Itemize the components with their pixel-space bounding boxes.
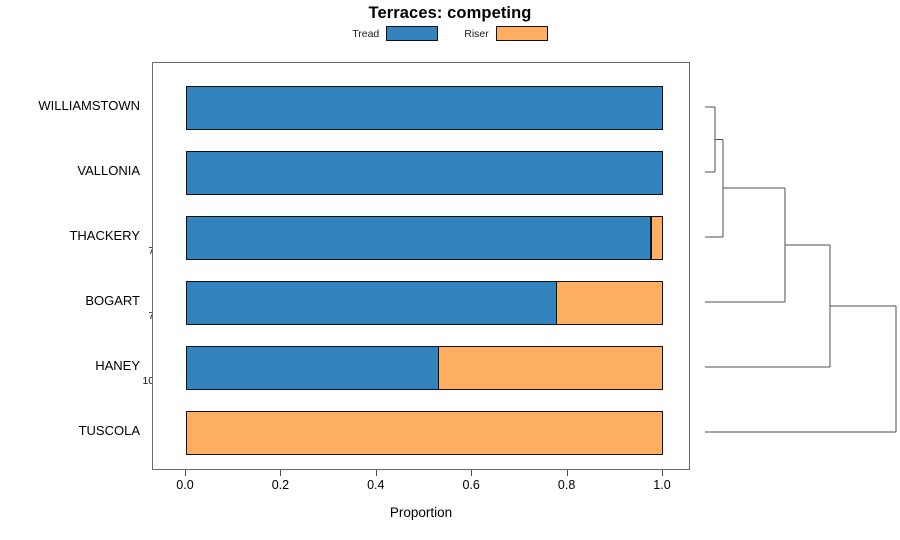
bar-segment-tread[interactable]: [187, 347, 438, 389]
bar-row: [153, 346, 691, 390]
bar-row: [153, 151, 691, 195]
bar-segment-tread[interactable]: [187, 152, 662, 194]
y-axis-label-thackery: THACKERY: [69, 228, 140, 243]
legend-swatch-riser: [496, 26, 548, 41]
x-tick-mark: [471, 470, 472, 476]
dendrogram-svg: [700, 62, 900, 470]
dendro-merge-1: [705, 107, 715, 172]
bar-segment-tread[interactable]: [187, 217, 650, 259]
x-tick-mark: [280, 470, 281, 476]
x-tick-label: 0.8: [544, 478, 590, 492]
x-tick-label: 0.2: [257, 478, 303, 492]
x-tick-label: 1.0: [639, 478, 685, 492]
stacked-bar[interactable]: [186, 411, 663, 455]
chart-legend: Tread Riser: [0, 26, 900, 41]
legend-swatch-tread: [386, 26, 438, 41]
y-axis-label-vallonia: VALLONIA: [77, 163, 140, 178]
bar-row: [153, 86, 691, 130]
y-axis-category-labels: WILLIAMSTOWNVALLONIATHACKERYBOGARTHANEYT…: [0, 62, 148, 470]
x-tick-label: 0.6: [448, 478, 494, 492]
bar-segment-tread[interactable]: [187, 87, 662, 129]
x-tick-mark: [662, 470, 663, 476]
y-axis-label-williamstown: WILLIAMSTOWN: [38, 98, 140, 113]
legend-label-riser: Riser: [464, 28, 489, 40]
bar-segment-riser[interactable]: [439, 347, 662, 389]
x-axis-ticks: [152, 470, 690, 478]
dendrogram: [700, 62, 900, 470]
x-tick-mark: [185, 470, 186, 476]
dendro-merge-5: [705, 306, 896, 432]
x-axis-title: Proportion: [152, 505, 690, 520]
bar-row: [153, 281, 691, 325]
dendro-merge-4: [705, 245, 830, 367]
y-axis-label-bogart: BOGART: [85, 293, 140, 308]
bar-row: [153, 411, 691, 455]
x-tick-label: 0.0: [162, 478, 208, 492]
bar-segment-tread[interactable]: [187, 282, 556, 324]
plot-panel: [152, 62, 690, 470]
y-axis-label-haney: HANEY: [95, 358, 140, 373]
x-tick-label: 0.4: [353, 478, 399, 492]
dendro-merge-3: [705, 188, 785, 302]
page-title: Terraces: competing: [0, 4, 900, 23]
y-axis-label-tuscola: TUSCOLA: [79, 423, 140, 438]
chart-root: Terraces: competing Tread Riser WILLIAMS…: [0, 0, 900, 540]
legend-item-riser[interactable]: Riser: [464, 26, 548, 41]
stacked-bar[interactable]: [186, 216, 663, 260]
bar-segment-riser[interactable]: [557, 282, 662, 324]
dendro-merge-2: [705, 140, 723, 238]
stacked-bar[interactable]: [186, 86, 663, 130]
x-tick-mark: [567, 470, 568, 476]
legend-item-tread[interactable]: Tread: [352, 26, 438, 41]
bar-segment-riser[interactable]: [652, 217, 662, 259]
stacked-bar[interactable]: [186, 281, 663, 325]
bar-row: [153, 216, 691, 260]
stacked-bar[interactable]: [186, 151, 663, 195]
legend-label-tread: Tread: [352, 28, 379, 40]
x-tick-mark: [376, 470, 377, 476]
bar-segment-riser[interactable]: [187, 412, 662, 454]
stacked-bar[interactable]: [186, 346, 663, 390]
